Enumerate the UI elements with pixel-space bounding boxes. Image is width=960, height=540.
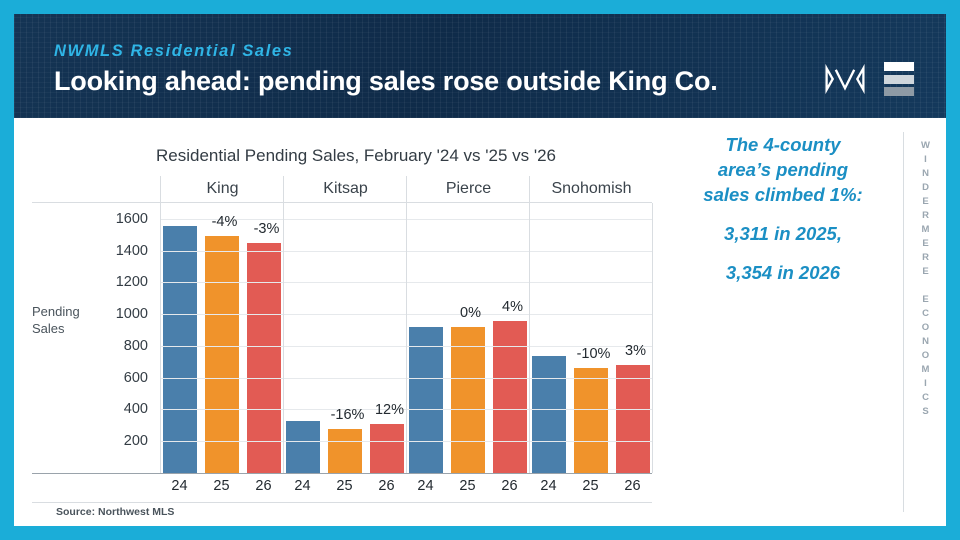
county-header-king: King — [160, 176, 284, 203]
x-tick-kitsap-25: 25 — [328, 478, 362, 494]
y-axis-tick-label: 1600 — [116, 211, 156, 227]
header-eyebrow: NWMLS Residential Sales — [54, 42, 293, 61]
vertical-brand-label: WINDERMERE ECONOMICS — [920, 140, 931, 420]
y-axis-tick-label: 600 — [124, 370, 156, 386]
x-tick-snohomish-25: 25 — [574, 478, 608, 494]
callout-line-4: 3,311 in 2025, — [672, 221, 894, 246]
chart-plot-area: PendingSales2004006008001000120014001600… — [32, 203, 652, 473]
bar-kitsap-25 — [328, 429, 362, 473]
windermere-w-icon — [822, 62, 868, 96]
bar-snohomish-24 — [532, 356, 566, 473]
x-axis-tick-labels: 242526242526242526242526 — [32, 474, 652, 502]
bar-snohomish-25 — [574, 368, 608, 473]
x-tick-kitsap-26: 26 — [370, 478, 404, 494]
windermere-bars-icon — [884, 62, 914, 96]
y-axis-tick-label: 800 — [124, 338, 156, 354]
x-tick-pierce-25: 25 — [451, 478, 485, 494]
bar-pierce-26 — [493, 321, 527, 473]
y-axis-tick-label: 1200 — [116, 274, 156, 290]
y-axis-tick-label: 1400 — [116, 243, 156, 259]
callout-line-2: area’s pending — [672, 157, 894, 182]
x-axis-bottom-rule — [32, 502, 652, 503]
county-header-pierce: Pierce — [406, 176, 530, 203]
group-separator — [160, 203, 161, 473]
bar-king-25 — [205, 236, 239, 473]
bar-pierce-25 — [451, 327, 485, 473]
x-tick-pierce-26: 26 — [493, 478, 527, 494]
bar-label-pierce-25: 0% — [447, 305, 495, 321]
x-tick-king-24: 24 — [163, 478, 197, 494]
callout-block: The 4-county area’s pending sales climbe… — [672, 132, 894, 285]
bar-snohomish-26 — [616, 365, 650, 473]
chart-title: Residential Pending Sales, February '24 … — [76, 146, 636, 166]
x-tick-snohomish-24: 24 — [532, 478, 566, 494]
bar-king-26 — [247, 243, 281, 473]
group-separator — [283, 203, 284, 473]
slide-header: NWMLS Residential Sales Looking ahead: p… — [14, 14, 946, 118]
bar-label-king-25: -4% — [201, 214, 249, 230]
y-axis-tick-label: 400 — [124, 401, 156, 417]
group-separator — [652, 203, 653, 473]
county-header-snohomish: Snohomish — [529, 176, 653, 203]
bar-kitsap-24 — [286, 421, 320, 473]
vertical-brand-text: WINDERMERE ECONOMICS — [920, 140, 942, 440]
callout-line-1: The 4-county — [672, 132, 894, 157]
group-separator — [529, 203, 530, 473]
bar-pierce-24 — [409, 327, 443, 473]
x-tick-kitsap-24: 24 — [286, 478, 320, 494]
y-axis-tick-label: 1000 — [116, 306, 156, 322]
callout-line-3: sales climbed 1%: — [672, 182, 894, 207]
x-tick-snohomish-26: 26 — [616, 478, 650, 494]
county-header-band: KingKitsapPierceSnohomish — [32, 176, 652, 203]
panel-divider — [903, 132, 904, 512]
x-tick-king-26: 26 — [247, 478, 281, 494]
callout-line-5: 3,354 in 2026 — [672, 260, 894, 285]
x-tick-king-25: 25 — [205, 478, 239, 494]
bar-label-kitsap-25: -16% — [324, 407, 372, 423]
source-note: Source: Northwest MLS — [56, 506, 174, 518]
y-axis-title: PendingSales — [32, 303, 94, 337]
bar-kitsap-26 — [370, 424, 404, 473]
x-tick-pierce-24: 24 — [409, 478, 443, 494]
header-headline: Looking ahead: pending sales rose outsid… — [54, 66, 718, 97]
bar-king-24 — [163, 226, 197, 473]
y-axis-tick-label: 200 — [124, 433, 156, 449]
county-header-kitsap: Kitsap — [283, 176, 407, 203]
bar-label-snohomish-25: -10% — [570, 346, 618, 362]
group-separator — [406, 203, 407, 473]
slide: NWMLS Residential Sales Looking ahead: p… — [0, 0, 960, 540]
